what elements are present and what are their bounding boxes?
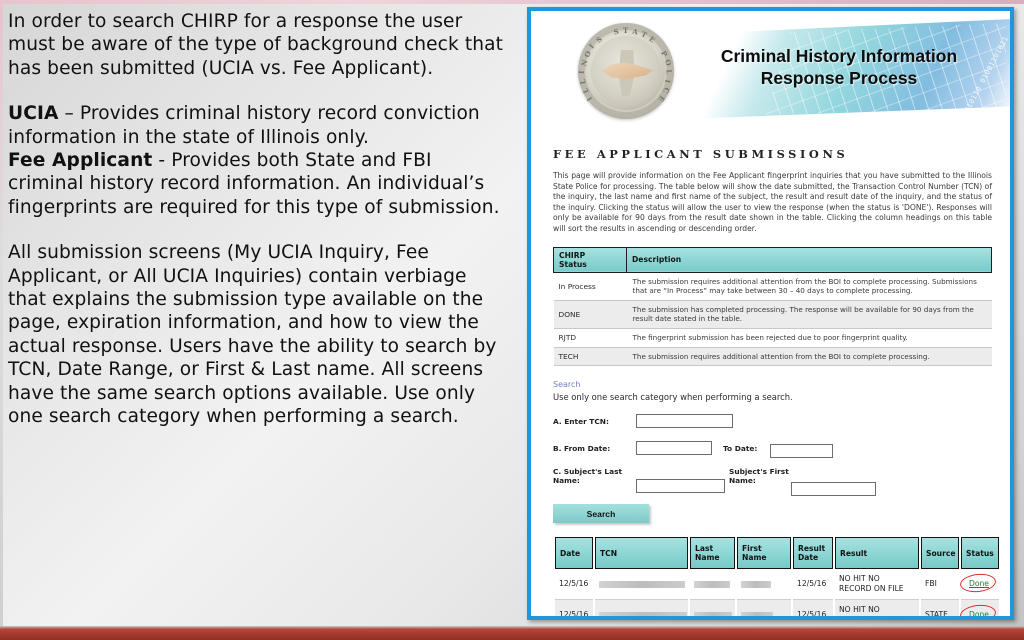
chirp-table-header-row[interactable]: CHIRP Status Description [554, 247, 992, 272]
banner-title-line1: Criminal History Information [699, 45, 979, 67]
first-name-input[interactable] [791, 482, 876, 496]
label-subject-first-name: Subject's First Name: [729, 467, 789, 485]
ucia-term: UCIA [8, 103, 58, 124]
results-header-last-name-line1: Last [695, 544, 730, 553]
search-button[interactable]: Search [553, 504, 649, 523]
cell-status: Done [961, 569, 999, 600]
chirp-description-cell: The submission has completed processing.… [627, 300, 992, 328]
slide-text-column: In order to search CHIRP for a response … [8, 10, 508, 570]
redacted-last-name [694, 581, 730, 588]
results-header-tcn[interactable]: TCN [595, 537, 688, 569]
cell-date: 12/5/16 [555, 600, 593, 616]
search-instruction: Use only one search category when perfor… [553, 392, 992, 402]
label-first-name-line2: Name: [729, 476, 756, 485]
paragraph-intro: In order to search CHIRP for a response … [8, 10, 508, 80]
table-row: In Process The submission requires addit… [554, 272, 992, 300]
redacted-tcn [599, 612, 687, 616]
paragraph-submission-screens: All submission screens (My UCIA Inquiry,… [8, 241, 508, 428]
tcn-input[interactable] [636, 414, 733, 428]
chirp-header-description[interactable]: Description [627, 247, 992, 272]
chirp-status-table: CHIRP Status Description In Process The … [553, 247, 992, 367]
chirp-status-cell: DONE [554, 300, 627, 328]
label-first-name-line1: Subject's First [729, 467, 789, 476]
cell-last-name [690, 600, 735, 616]
cell-date: 12/5/16 [555, 569, 593, 600]
results-header-last-name[interactable]: Last Name [690, 537, 735, 569]
cell-first-name [737, 569, 791, 600]
status-done-link[interactable]: Done [969, 579, 989, 588]
search-row-dates: B. From Date: To Date: [553, 438, 992, 466]
to-date-input[interactable] [770, 444, 833, 458]
results-header-last-name-line2: Name [695, 553, 730, 562]
last-name-input[interactable] [636, 479, 725, 493]
label-last-name-line1: C. Subject's Last [553, 467, 622, 476]
results-header-result[interactable]: Result [835, 537, 919, 569]
label-last-name-line2: Name: [553, 476, 580, 485]
fee-applicant-term: Fee Applicant [8, 150, 152, 171]
status-done-link[interactable]: Done [969, 610, 989, 616]
cell-last-name [690, 569, 735, 600]
panel-body: FEE APPLICANT SUBMISSIONS This page will… [531, 147, 1010, 616]
section-paragraph: This page will provide information on th… [553, 171, 992, 235]
results-header-source[interactable]: Source [921, 537, 959, 569]
cell-result-line1: NO HIT NO [839, 574, 915, 584]
chirp-header-status[interactable]: CHIRP Status [554, 247, 627, 272]
cell-tcn [595, 600, 688, 616]
cell-result: NO HIT NO RECORD ON FILE [835, 569, 919, 600]
search-row-tcn: A. Enter TCN: [553, 414, 992, 438]
results-header-date[interactable]: Date [555, 537, 593, 569]
results-header-first-name[interactable]: First Name [737, 537, 791, 569]
results-header-result-date-line1: Result [798, 544, 828, 553]
label-subject-last-name: C. Subject's Last Name: [553, 467, 622, 485]
cell-result-date: 12/5/16 [793, 569, 833, 600]
search-row-names: C. Subject's Last Name: Subject's First … [553, 466, 992, 500]
chirp-status-cell: TECH [554, 347, 627, 366]
table-row: DONE The submission has completed proces… [554, 300, 992, 328]
chirp-description-cell: The fingerprint submission has been reje… [627, 328, 992, 347]
chirp-screenshot-panel: 0101001010110 01001101011 010110100101 1… [527, 7, 1014, 620]
chirp-header-status-line1: CHIRP [559, 251, 621, 260]
chirp-description-cell: The submission requires additional atten… [627, 347, 992, 366]
results-header-result-date[interactable]: Result Date [793, 537, 833, 569]
label-from-date: B. From Date: [553, 444, 610, 453]
search-heading: Search [553, 380, 992, 389]
slide-canvas: In order to search CHIRP for a response … [0, 0, 1024, 640]
cell-source: FBI [921, 569, 959, 600]
cell-tcn [595, 569, 688, 600]
bottom-border-bar [0, 626, 1024, 640]
cell-result: NO HIT NO RECORD ON FILE [835, 600, 919, 616]
seal-rim-lettering: ILLINOIS STATE POLICE [578, 23, 674, 119]
results-header-status[interactable]: Status [961, 537, 999, 569]
status-done-wrapper: Done [965, 609, 993, 616]
table-row: RJTD The fingerprint submission has been… [554, 328, 992, 347]
chirp-status-cell: In Process [554, 272, 627, 300]
cell-result-line2: RECORD ON FILE [839, 615, 915, 616]
results-table: Date TCN Last Name First Name Result Dat… [553, 537, 1001, 616]
banner-title-line2: Response Process [699, 67, 979, 89]
chirp-status-cell: RJTD [554, 328, 627, 347]
illinois-state-police-seal-icon: ILLINOIS STATE POLICE [578, 23, 674, 119]
cell-result-line1: NO HIT NO [839, 605, 915, 615]
paragraph-ucia: UCIA – Provides criminal history record … [8, 102, 508, 149]
cell-source: STATE [921, 600, 959, 616]
results-header-result-date-line2: Date [798, 553, 828, 562]
cell-status: Done [961, 600, 999, 616]
redacted-tcn [599, 581, 685, 588]
paragraph-fee-applicant: Fee Applicant - Provides both State and … [8, 149, 508, 219]
top-border-strip [0, 0, 1024, 4]
table-row: 12/5/16 12/5/16 NO HIT NO RECORD ON FILE… [555, 600, 999, 616]
from-date-input[interactable] [636, 441, 712, 455]
cell-first-name [737, 600, 791, 616]
redacted-first-name [741, 581, 771, 588]
banner-title: Criminal History Information Response Pr… [699, 45, 979, 89]
table-row: TECH The submission requires additional … [554, 347, 992, 366]
results-header-row[interactable]: Date TCN Last Name First Name Result Dat… [555, 537, 999, 569]
status-done-wrapper: Done [965, 578, 993, 590]
section-title: FEE APPLICANT SUBMISSIONS [553, 147, 992, 161]
redacted-last-name [694, 612, 732, 616]
cell-result-date: 12/5/16 [793, 600, 833, 616]
label-enter-tcn: A. Enter TCN: [553, 417, 609, 426]
chirp-header-status-line2: Status [559, 260, 621, 269]
label-to-date: To Date: [723, 444, 757, 453]
chirp-description-cell: The submission requires additional atten… [627, 272, 992, 300]
left-border-strip [0, 0, 3, 640]
cell-result-line2: RECORD ON FILE [839, 584, 915, 594]
app-banner: 0101001010110 01001101011 010110100101 1… [531, 11, 1010, 133]
table-row: 12/5/16 12/5/16 NO HIT NO RECORD ON FILE… [555, 569, 999, 600]
redacted-first-name [741, 612, 773, 616]
ucia-description: – Provides criminal history record convi… [8, 103, 480, 147]
